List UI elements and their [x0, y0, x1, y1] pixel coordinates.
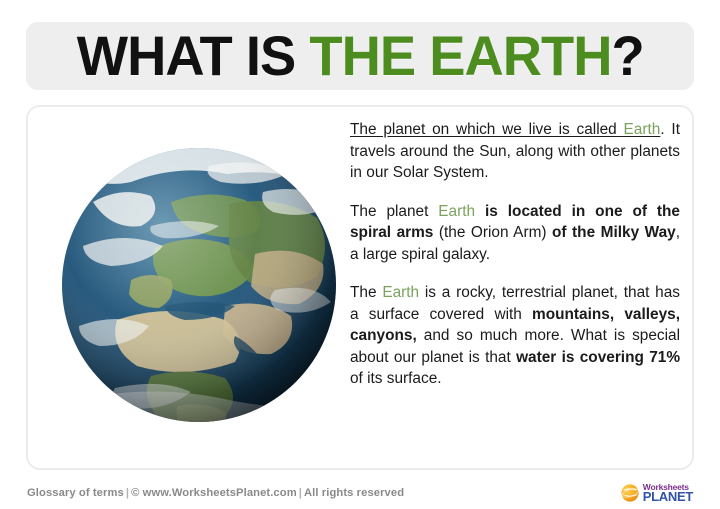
paragraph-1-lead: The planet on which we live is called Ea…: [350, 121, 660, 138]
worksheet-page: WHAT IS THE EARTH?: [0, 0, 720, 509]
footer-credits: Glossary of terms|© www.WorksheetsPlanet…: [27, 487, 404, 499]
paragraph-1: The planet on which we live is called Ea…: [350, 119, 680, 184]
page-title-black-prefix: WHAT IS: [77, 24, 310, 87]
paragraph-3-earth-highlight: Earth: [382, 284, 419, 301]
logo-wordmark: Worksheets PLANET: [643, 483, 693, 504]
earth-illustration: [59, 130, 339, 440]
paragraph-1-earth-highlight: Earth: [624, 121, 661, 138]
page-title-green-part: THE EARTH: [309, 24, 611, 87]
article-text: The planet on which we live is called Ea…: [350, 119, 680, 390]
paragraph-3-seg5-bold: water is covering 71%: [516, 349, 680, 366]
paragraph-3: The Earth is a rocky, terrestrial planet…: [350, 282, 680, 390]
logo-bottom-word: PLANET: [643, 490, 693, 503]
footer-copyright-icon: ©: [131, 487, 139, 499]
worksheets-planet-logo[interactable]: Worksheets PLANET: [620, 483, 693, 504]
paragraph-3-seg6: of its surface.: [350, 370, 442, 387]
paragraph-3-seg1: The: [350, 284, 382, 301]
footer-rights-label: All rights reserved: [304, 487, 404, 499]
footer-separator-2: |: [297, 487, 304, 499]
page-title: WHAT IS THE EARTH?: [77, 28, 644, 84]
page-title-question-mark: ?: [611, 24, 643, 87]
page-footer: Glossary of terms|© www.WorksheetsPlanet…: [27, 481, 693, 505]
earth-globe-icon: [59, 130, 339, 440]
footer-website-link[interactable]: www.WorksheetsPlanet.com: [143, 487, 297, 499]
footer-separator-1: |: [124, 487, 131, 499]
planet-swirl-icon: [620, 483, 640, 503]
paragraph-2-seg3: (the Orion Arm): [433, 224, 552, 241]
footer-glossary-label: Glossary of terms: [27, 487, 124, 499]
title-banner: WHAT IS THE EARTH?: [26, 22, 694, 90]
paragraph-2-seg4-bold: of the Milky Way: [552, 224, 676, 241]
paragraph-2-earth-highlight: Earth: [438, 203, 475, 220]
paragraph-2-seg1: The planet: [350, 203, 438, 220]
paragraph-1-lead-prefix: The planet on which we live is called: [350, 121, 624, 138]
paragraph-2: The planet Earth is located in one of th…: [350, 201, 680, 266]
content-card: The planet on which we live is called Ea…: [26, 105, 694, 470]
